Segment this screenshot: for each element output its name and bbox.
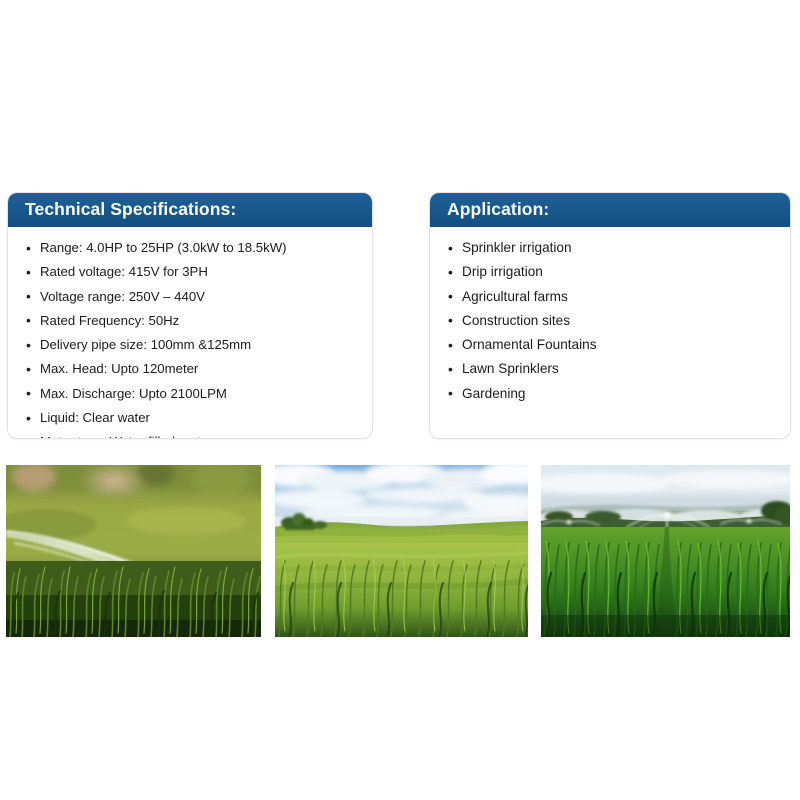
- list-item: Drip irrigation: [448, 260, 778, 284]
- list-item: Voltage range: 250V – 440V: [26, 285, 360, 309]
- list-item: Motor type: Water filled motor: [26, 430, 360, 439]
- technical-specifications-body: Range: 4.0HP to 25HP (3.0kW to 18.5kW) R…: [8, 227, 372, 439]
- list-item: Max. Discharge: Upto 2100LPM: [26, 382, 360, 406]
- technical-specifications-title: Technical Specifications:: [25, 201, 236, 219]
- technical-specifications-list: Range: 4.0HP to 25HP (3.0kW to 18.5kW) R…: [26, 236, 360, 439]
- application-body: Sprinkler irrigation Drip irrigation Agr…: [430, 227, 790, 416]
- list-item: Range: 4.0HP to 25HP (3.0kW to 18.5kW): [26, 236, 360, 260]
- application-header: Application:: [430, 193, 790, 227]
- list-item: Gardening: [448, 382, 778, 406]
- lawn-sprinkler-closeup-photo: [6, 465, 261, 637]
- green-field-blue-sky-photo: [275, 465, 528, 637]
- application-list: Sprinkler irrigation Drip irrigation Agr…: [448, 236, 778, 406]
- crop-field-irrigation-sprinklers-photo: [541, 465, 790, 637]
- application-card: Application: Sprinkler irrigation Drip i…: [429, 192, 791, 439]
- list-item: Sprinkler irrigation: [448, 236, 778, 260]
- technical-specifications-card: Technical Specifications: Range: 4.0HP t…: [7, 192, 373, 439]
- technical-specifications-header: Technical Specifications:: [8, 193, 372, 227]
- list-item: Construction sites: [448, 309, 778, 333]
- list-item: Delivery pipe size: 100mm &125mm: [26, 333, 360, 357]
- list-item: Max. Head: Upto 120meter: [26, 357, 360, 381]
- application-title: Application:: [447, 201, 549, 219]
- list-item: Lawn Sprinklers: [448, 357, 778, 381]
- list-item: Rated Frequency: 50Hz: [26, 309, 360, 333]
- list-item: Liquid: Clear water: [26, 406, 360, 430]
- list-item: Rated voltage: 415V for 3PH: [26, 260, 360, 284]
- list-item: Ornamental Fountains: [448, 333, 778, 357]
- list-item: Agricultural farms: [448, 285, 778, 309]
